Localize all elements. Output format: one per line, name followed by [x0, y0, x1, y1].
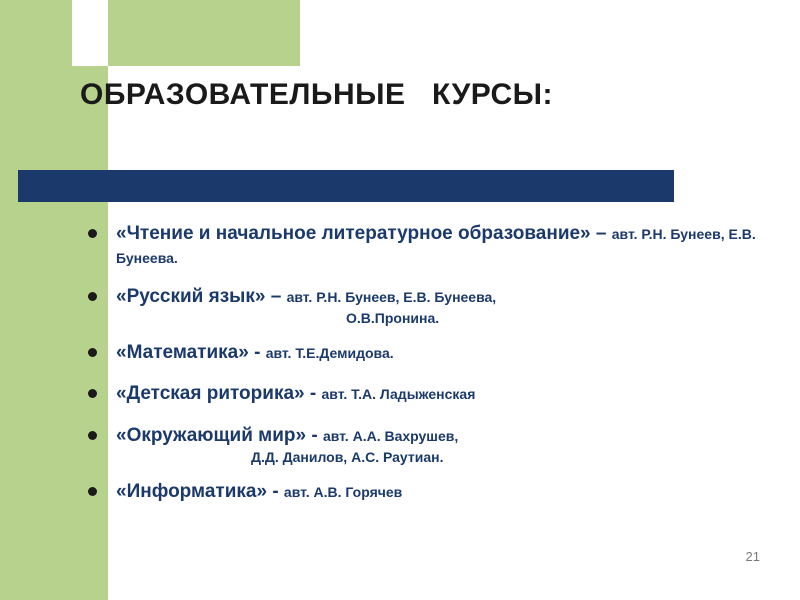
course-name: «Русский язык» –	[116, 286, 287, 307]
list-item-title: «Информатика» - авт. А.В. Горячев	[116, 480, 788, 504]
list-item-title: «Русский язык» – авт. Р.Н. Бунеев, Е.В. …	[116, 285, 788, 309]
list-item: «Чтение и начальное литературное образов…	[88, 222, 788, 271]
course-name: «Математика» -	[116, 342, 266, 363]
bullet-point-icon	[88, 292, 97, 301]
course-author: авт. А.А. Вахрушев,	[323, 428, 458, 444]
bullet-point-icon	[88, 487, 97, 496]
bullet-point-icon	[88, 431, 97, 440]
page-title: ОБРАЗОВАТЕЛЬНЫЕ КУРСЫ:	[80, 78, 780, 112]
list-item: «Русский язык» – авт. Р.Н. Бунеев, Е.В. …	[88, 285, 788, 328]
slide-canvas: ОБРАЗОВАТЕЛЬНЫЕ КУРСЫ: «Чтение и начальн…	[0, 0, 800, 600]
course-name: «Окружающий мир» -	[116, 425, 323, 446]
course-author-continued: Д.Д. Данилов, А.С. Раутиан.	[116, 448, 788, 466]
course-author: авт. Р.Н. Бунеев, Е.В. Бунеева,	[287, 289, 497, 305]
bullet-point-icon	[88, 229, 97, 238]
list-item: «Детская риторика» - авт. Т.А. Ладыженск…	[88, 382, 788, 406]
decor-white-strip	[72, 0, 108, 66]
course-author: авт. Т.Е.Демидова.	[266, 345, 394, 361]
bullet-point-icon	[88, 389, 97, 398]
course-author: авт. А.В. Горячев	[284, 484, 402, 500]
list-item-title: «Окружающий мир» - авт. А.А. Вахрушев,	[116, 424, 788, 448]
course-name: «Детская риторика» -	[116, 383, 321, 404]
course-author: авт. Т.А. Ладыженская	[321, 386, 475, 402]
list-item-title: «Детская риторика» - авт. Т.А. Ладыженск…	[116, 382, 788, 406]
page-number: 21	[746, 549, 760, 564]
course-list: «Чтение и начальное литературное образов…	[88, 222, 788, 519]
bullet-point-icon	[88, 348, 97, 357]
list-item-title: «Математика» - авт. Т.Е.Демидова.	[116, 341, 788, 365]
list-item: «Математика» - авт. Т.Е.Демидова.	[88, 341, 788, 365]
course-name: «Чтение и начальное литературное образов…	[116, 223, 612, 244]
course-author-continued: О.В.Пронина.	[116, 309, 788, 327]
list-item: «Информатика» - авт. А.В. Горячев	[88, 480, 788, 504]
list-item: «Окружающий мир» - авт. А.А. Вахрушев, Д…	[88, 424, 788, 467]
decor-navy-bar	[18, 170, 674, 202]
course-name: «Информатика» -	[116, 481, 284, 502]
list-item-title: «Чтение и начальное литературное образов…	[116, 222, 788, 271]
